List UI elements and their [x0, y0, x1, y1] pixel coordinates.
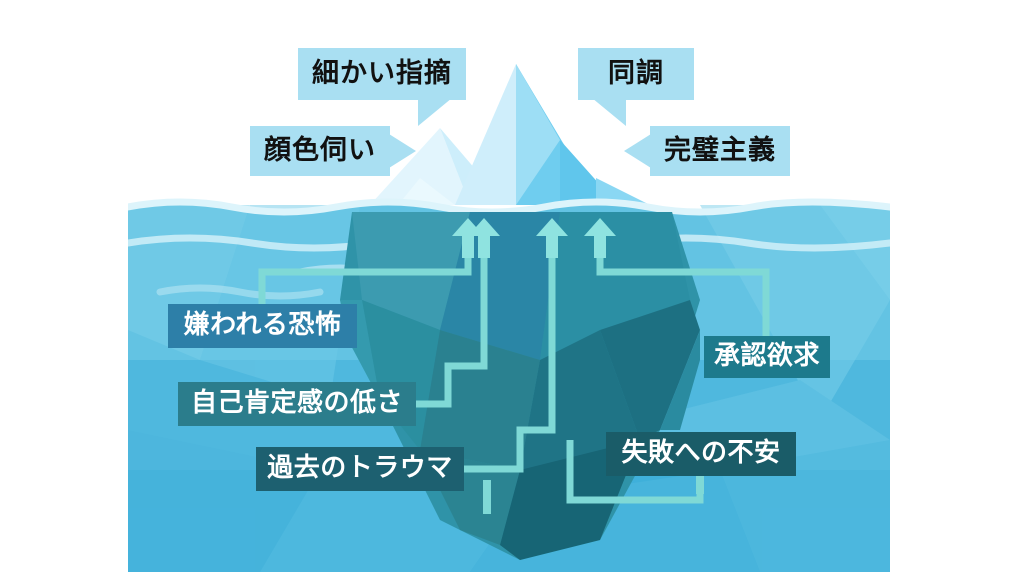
tag-label: 嫌われる恐怖	[184, 312, 342, 338]
tag-fear-of-failure[interactable]: 失敗への不安	[606, 432, 796, 476]
bubble-label: 完璧主義	[664, 137, 776, 164]
tag-fear-of-being-disliked[interactable]: 嫌われる恐怖	[168, 304, 357, 348]
bubble-reading-the-room[interactable]: 顔色伺い	[250, 126, 390, 176]
tag-label: 失敗への不安	[621, 440, 780, 466]
tag-label: 過去のトラウマ	[267, 455, 453, 481]
bubble-tail-icon	[418, 98, 452, 126]
bubble-detailed-criticism[interactable]: 細かい指摘	[298, 48, 466, 100]
bubble-perfectionism[interactable]: 完璧主義	[650, 126, 790, 176]
bubble-tail-icon	[389, 134, 416, 168]
bubble-label: 顔色伺い	[264, 137, 376, 164]
tag-label: 承認欲求	[714, 343, 820, 369]
tag-past-trauma[interactable]: 過去のトラウマ	[256, 447, 464, 491]
tag-need-for-approval[interactable]: 承認欲求	[704, 336, 830, 378]
bubble-label: 細かい指摘	[312, 60, 452, 87]
iceberg-diagram-canvas: 細かい指摘 同調 顔色伺い 完璧主義 嫌われる恐怖 自己肯定感の低さ 過去のトラ…	[0, 0, 1024, 572]
bubble-tail-icon	[624, 134, 651, 168]
tag-low-self-esteem[interactable]: 自己肯定感の低さ	[178, 382, 416, 426]
iceberg-scene	[0, 0, 1024, 572]
bubble-tail-icon	[592, 98, 626, 126]
bubble-label: 同調	[608, 60, 664, 87]
tag-label: 自己肯定感の低さ	[191, 390, 403, 416]
bubble-conformity[interactable]: 同調	[578, 48, 694, 100]
